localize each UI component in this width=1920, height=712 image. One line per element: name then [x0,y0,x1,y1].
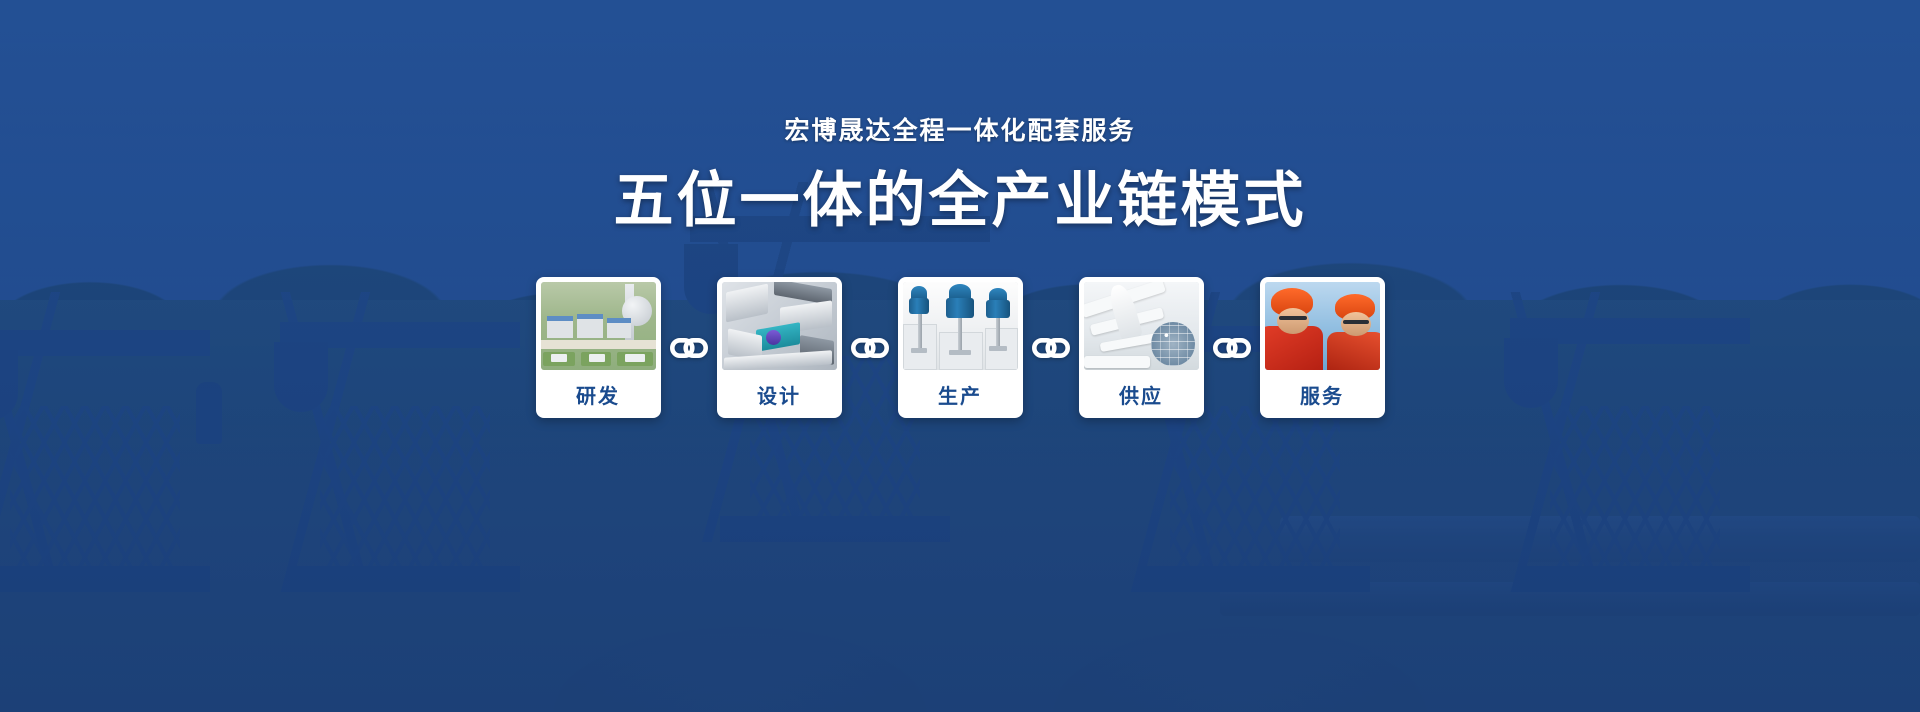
hero-banner: 宏博晟达全程一体化配套服务 五位一体的全产业链模式 [0,0,1920,712]
banner-content: 宏博晟达全程一体化配套服务 五位一体的全产业链模式 [0,0,1920,712]
chain-card-design[interactable]: 设计 [717,277,842,418]
chain-card-supply[interactable]: 供应 [1079,277,1204,418]
banner-title: 五位一体的全产业链模式 [614,169,1307,232]
chain-link-icon [1204,277,1260,418]
research-thumbnail [541,282,656,370]
value-chain-list: 研发 [536,277,1385,418]
chain-card-label: 研发 [541,370,656,418]
chain-card-research[interactable]: 研发 [536,277,661,418]
chain-link-icon [842,277,898,418]
design-thumbnail [722,282,837,370]
chain-link-icon [661,277,717,418]
chain-card-label: 生产 [903,370,1018,418]
chain-link-icon [1023,277,1079,418]
chain-card-label: 供应 [1084,370,1199,418]
chain-card-service[interactable]: 服务 [1260,277,1385,418]
banner-subtitle: 宏博晟达全程一体化配套服务 [784,119,1135,144]
chain-card-label: 服务 [1265,370,1380,418]
service-thumbnail [1265,282,1380,370]
chain-card-production[interactable]: 生产 [898,277,1023,418]
chain-card-label: 设计 [722,370,837,418]
supply-thumbnail [1084,282,1199,370]
production-thumbnail [903,282,1018,370]
